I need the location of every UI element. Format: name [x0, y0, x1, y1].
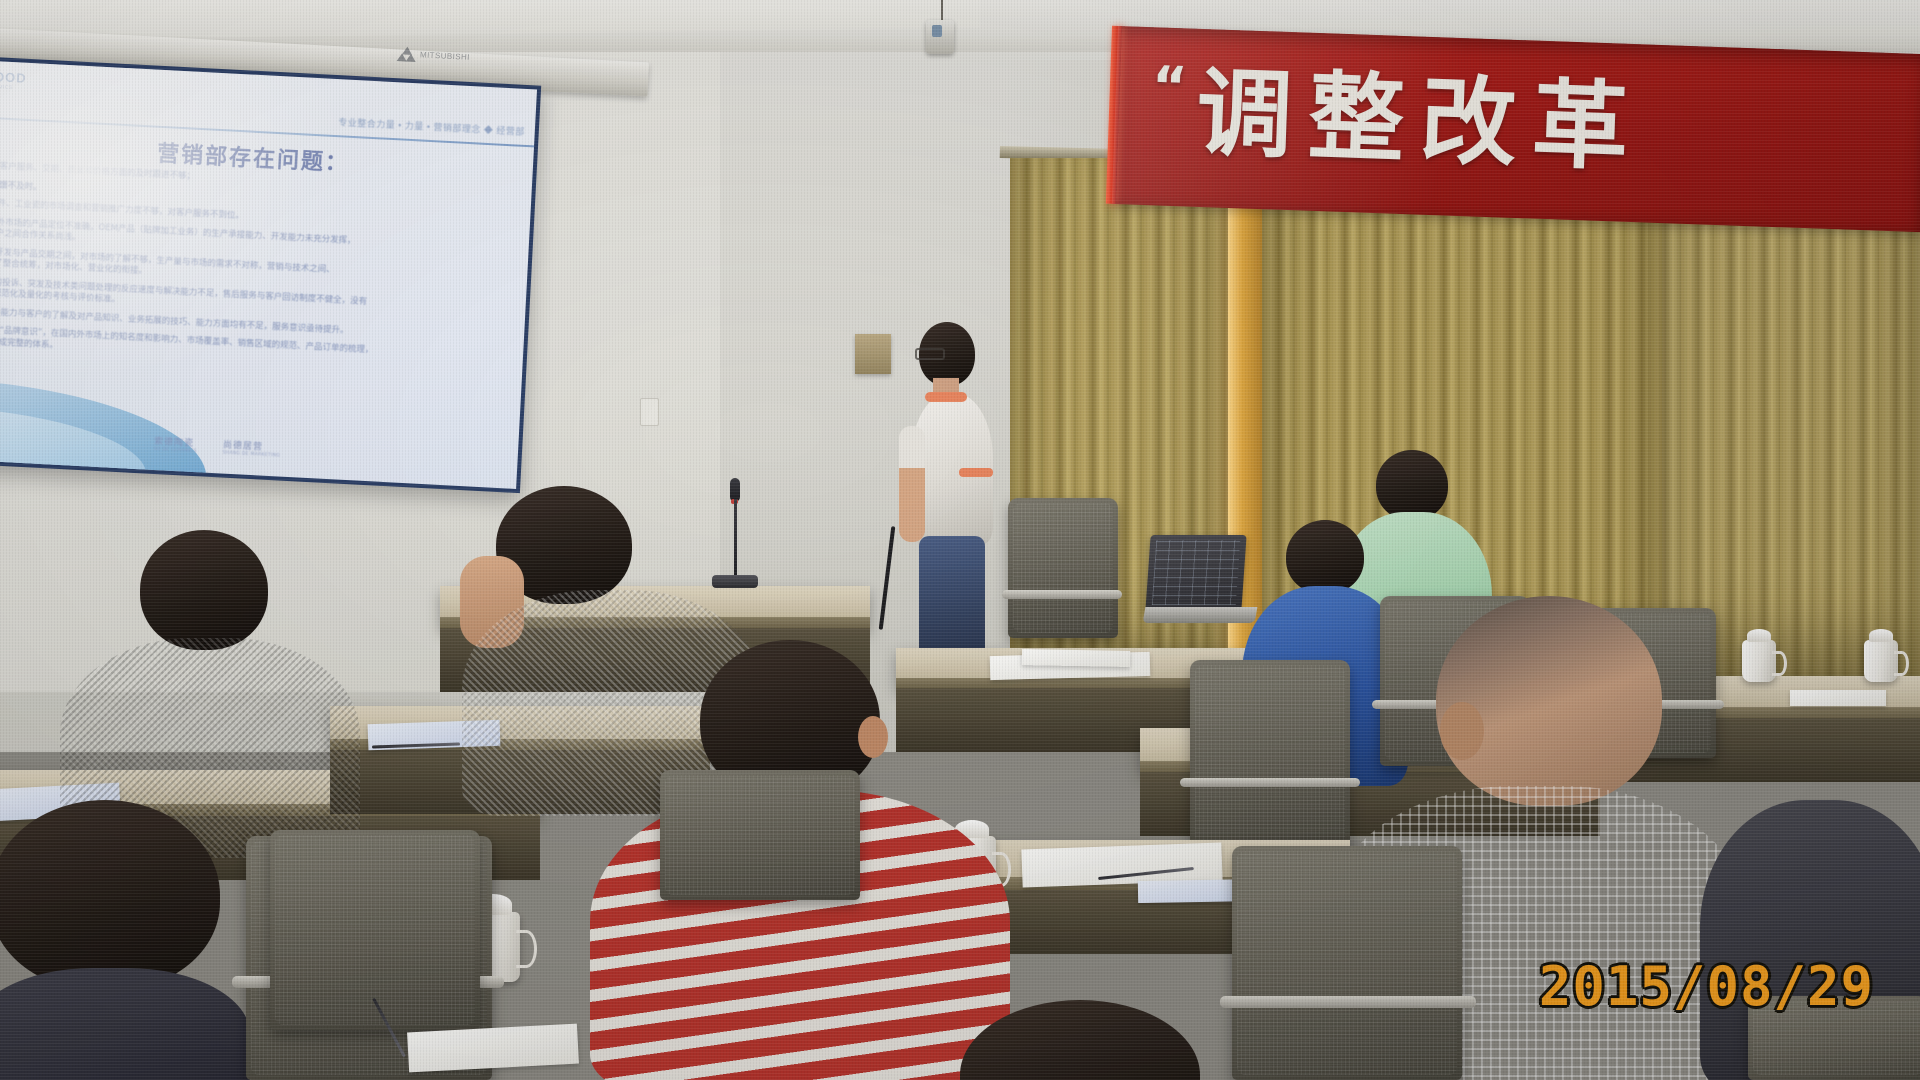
attendee-head [0, 800, 220, 990]
slide-eyebrow-text: 专业整合力量 • 力量 • 营销部理念 ◆ 经营部 [338, 115, 525, 138]
slide-footer-left: 索德陶瓷 SO DE CERAMICS [154, 434, 198, 454]
banner-slogan: 调整改革 [1195, 65, 1646, 177]
chair-arm [1180, 778, 1360, 787]
chair-arm [1002, 590, 1122, 599]
date-stamp: 2015/08/29 [1539, 955, 1874, 1018]
attendee-torso [0, 968, 250, 1080]
slide-footer-right-sub: SHANG DE MARKETING [222, 451, 280, 459]
chair-mesh [665, 775, 855, 895]
attendee-bottom-left [0, 800, 250, 1080]
projection-surface: GOOD CERAMICS 专业整合力量 • 力量 • 营销部理念 ◆ 经营部 … [0, 60, 537, 489]
laptop-keyboard-deck[interactable] [1143, 607, 1258, 623]
chair-presenter-side[interactable] [1008, 498, 1118, 638]
chair-second-row-a[interactable] [1190, 660, 1350, 850]
mitsubishi-mark-icon [398, 46, 416, 62]
slide-body: 1、对现有客户服务、交期、质量和价格方面的及时跟进不够；2、信息反馈不及时。3、… [0, 159, 526, 383]
ceiling-fixture [926, 20, 954, 54]
presenter-collar-trim [925, 392, 967, 402]
head-table-paper-2 [1022, 649, 1130, 667]
chair-arm [1220, 996, 1476, 1008]
laptop-screen [1152, 540, 1241, 605]
attendee-head [1286, 520, 1364, 594]
attendee-head [960, 1000, 1200, 1080]
attendee-ear [858, 716, 888, 758]
photograph: MITSUBISHI GOOD CERAMICS 专业整合力量 • 力量 • 营… [0, 0, 1920, 1080]
housing-brand-label: MITSUBISHI [420, 50, 470, 62]
chair-mesh [1237, 851, 1457, 1075]
presenter [895, 322, 1015, 682]
attendee-ear [1440, 702, 1484, 760]
chair-mesh [1195, 665, 1345, 845]
slide-footer-right: 尚德居营 SHANG DE MARKETING [222, 438, 280, 459]
teacup-handle [516, 930, 537, 968]
presentation-slide: GOOD CERAMICS 专业整合力量 • 力量 • 营销部理念 ◆ 经营部 … [0, 60, 537, 489]
chair-mid-center[interactable] [660, 770, 860, 900]
wall-panel-plate [855, 334, 891, 374]
attendee-head [1436, 596, 1662, 806]
light-switch[interactable] [640, 398, 659, 426]
slide-corner-logo: GOOD CERAMICS [0, 69, 35, 98]
banner-quote-mark: “ [1151, 63, 1188, 110]
chair-mesh [1013, 503, 1113, 633]
red-banner: “ 调整改革 [1112, 26, 1920, 232]
laptop-lid [1145, 535, 1246, 611]
presenter-sleeve-trim [959, 468, 993, 477]
bottom-left-papers [407, 1024, 579, 1073]
presenter-arm [899, 426, 925, 542]
slide-logo-text: GOOD [0, 69, 35, 87]
attendee-head [140, 530, 268, 650]
attendee-bottom-center [960, 1000, 1220, 1080]
teacup-handle [1894, 651, 1909, 676]
projection-screen: GOOD CERAMICS 专业整合力量 • 力量 • 营销部理念 ◆ 经营部 … [0, 56, 541, 493]
teacup-back-right-2 [1864, 640, 1898, 682]
presenter-glasses-icon [915, 348, 945, 360]
banner-text: “ 调整改革 [1149, 63, 1646, 176]
chair-front-right[interactable] [1232, 846, 1462, 1080]
chair-mesh [275, 835, 475, 1025]
attendee-head [1376, 450, 1448, 520]
